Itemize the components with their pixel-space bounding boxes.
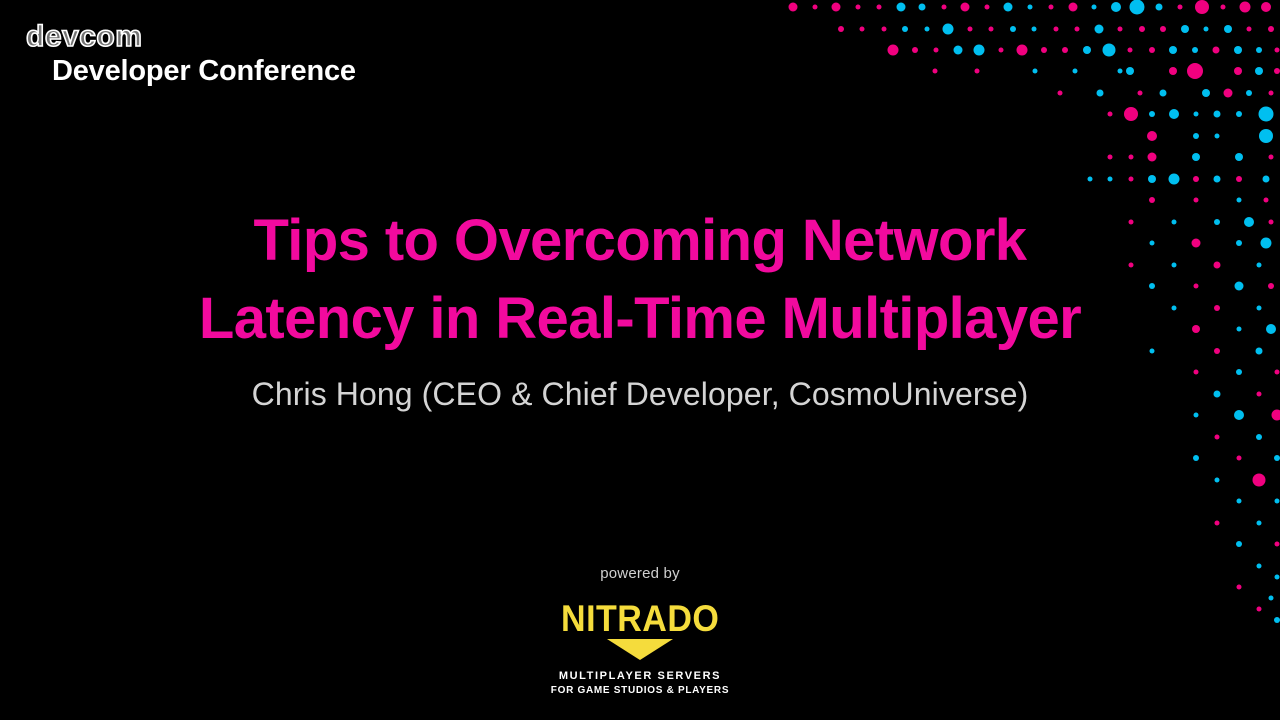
sponsor-block: powered by NITRADO MULTIPLAYER SERVERS F… xyxy=(0,564,1280,698)
devcom-logo: devcom Developer Conference xyxy=(26,22,356,87)
nitrado-wordmark: NITRADO xyxy=(558,600,722,637)
triangle-down-icon xyxy=(607,639,673,660)
title-line-1: Tips to Overcoming Network xyxy=(110,202,1170,280)
nitrado-tagline-line-2: FOR GAME STUDIOS & PLAYERS xyxy=(551,684,729,697)
speaker-byline: Chris Hong (CEO & Chief Developer, Cosmo… xyxy=(0,374,1280,414)
nitrado-tagline-line-1: MULTIPLAYER SERVERS xyxy=(551,669,729,683)
title-slide: devcom Developer Conference Tips to Over… xyxy=(0,0,1280,720)
devcom-wordmark: devcom xyxy=(26,22,356,52)
title-block: Tips to Overcoming Network Latency in Re… xyxy=(0,202,1280,414)
title-line-2: Latency in Real-Time Multiplayer xyxy=(110,280,1170,358)
developer-conference-wordmark: Developer Conference xyxy=(52,55,356,87)
page-title: Tips to Overcoming Network Latency in Re… xyxy=(0,202,1280,358)
nitrado-logo: NITRADO MULTIPLAYER SERVERS FOR GAME STU… xyxy=(551,600,729,697)
powered-by-label: powered by xyxy=(0,564,1280,584)
